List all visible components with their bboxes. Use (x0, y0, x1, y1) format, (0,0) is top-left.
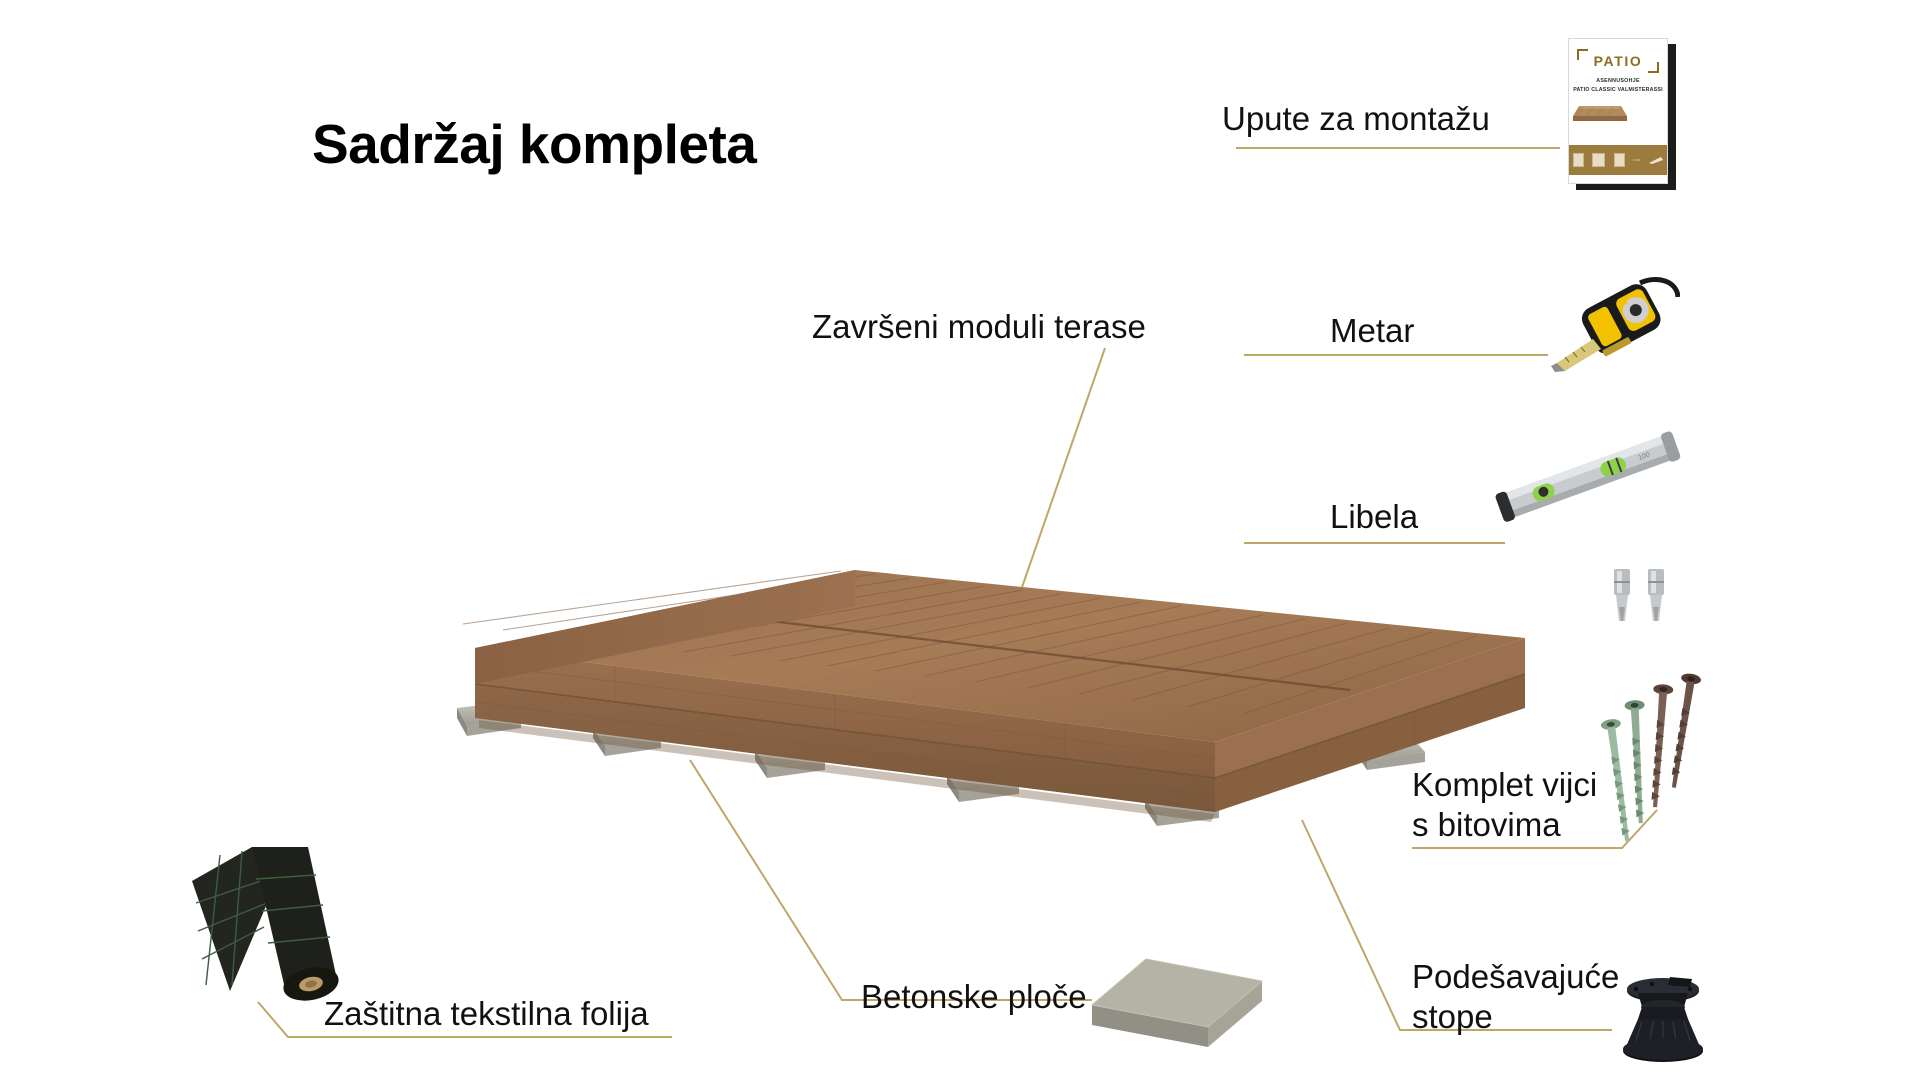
geotextile-roll-icon (190, 845, 390, 1020)
callout-label-deck-modules: Završeni moduli terase (812, 308, 1146, 347)
page-title: Sadržaj kompleta (312, 112, 756, 176)
callout-label-concrete-slabs: Betonske ploče (861, 978, 1087, 1017)
screw-bits-icon (1608, 565, 1688, 645)
adjustable-pedestal-icon (1608, 975, 1718, 1065)
booklet-step-icon-2 (1592, 153, 1605, 167)
concrete-slab-icon (1090, 955, 1265, 1060)
booklet-deck-mini-icon (1649, 156, 1663, 164)
booklet-subtitle-2: PATIO CLASSIC VALMISTERASSI (1569, 87, 1667, 93)
manual-booklet-icon: PATIO ASENNUSOHJE PATIO CLASSIC VALMISTE… (1568, 38, 1678, 190)
callout-label-pedestals: Podešavajuće stope (1412, 957, 1619, 1036)
booklet-step-icon-3 (1614, 153, 1625, 167)
slide-canvas: Sadržaj kompleta Upute za montažu Završe… (0, 0, 1920, 1080)
spirit-level-icon: 100 (1490, 420, 1685, 535)
wooden-deck-icon (455, 560, 1565, 860)
booklet-deck-photo (1569, 102, 1631, 128)
tape-measure-icon (1545, 275, 1680, 375)
booklet-brand-logo: PATIO (1583, 53, 1653, 69)
booklet-subtitle-1: ASENNUSOHJE (1569, 78, 1667, 84)
callout-label-spirit-level: Libela (1330, 498, 1418, 537)
callout-label-instructions: Upute za montažu (1222, 100, 1490, 139)
deck-platform (455, 560, 1565, 860)
leader-deck-modules (1020, 348, 1105, 593)
booklet-step-icon-1 (1573, 153, 1584, 167)
callout-label-tape-measure: Metar (1330, 312, 1414, 351)
booklet-front-cover: PATIO ASENNUSOHJE PATIO CLASSIC VALMISTE… (1568, 38, 1668, 184)
booklet-spec-icon: ▭▭ (1633, 158, 1641, 162)
screws-icon (1600, 665, 1705, 855)
booklet-footer-strip: ▭▭ (1569, 145, 1667, 175)
